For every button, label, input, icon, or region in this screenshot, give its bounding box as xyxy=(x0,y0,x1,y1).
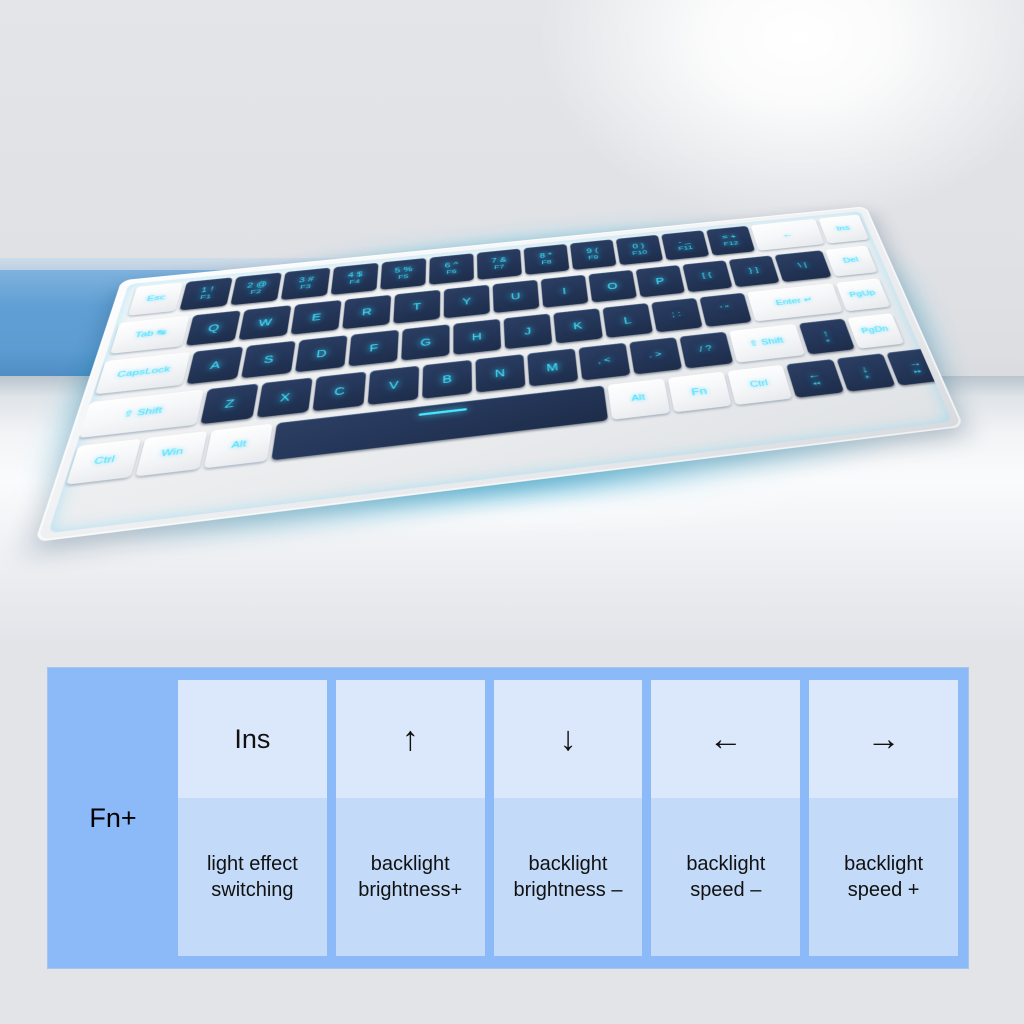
keycap-primary-legend: F xyxy=(369,342,379,353)
key-4[interactable]: 4 $F4 xyxy=(331,263,379,295)
product-image-stage: Esc1 !F12 @F23 #F34 $F45 %F56 ^F67 &F78 … xyxy=(0,0,1024,1024)
keycap-primary-legend: C xyxy=(334,385,346,397)
keycap-primary-legend: Win xyxy=(160,447,184,459)
keycap-secondary-legend: F5 xyxy=(398,274,409,281)
keycap-primary-legend: K xyxy=(573,320,583,331)
shortcut-column-2: ↓backlight brightness – xyxy=(494,680,643,956)
key-alt[interactable]: Alt xyxy=(607,378,670,419)
keycap-primary-legend: . > xyxy=(648,351,662,361)
key-tab[interactable]: Tab ↹ xyxy=(110,316,190,354)
shortcut-action-cell: backlight brightness – xyxy=(494,798,643,956)
keycap-primary-legend: Ctrl xyxy=(93,455,116,467)
keycap-secondary-legend: ☀ xyxy=(824,338,832,344)
key-ctrl[interactable]: Ctrl xyxy=(727,365,792,405)
keycap-primary-legend: [ { xyxy=(702,272,713,280)
keycap-primary-legend: Z xyxy=(224,397,236,409)
keycap-primary-legend: B xyxy=(442,373,452,385)
key-t[interactable]: T xyxy=(393,290,440,324)
keycap-primary-legend: PgDn xyxy=(861,325,891,336)
keycap-primary-legend: Fn xyxy=(690,386,708,398)
keycap-primary-legend: Enter ↵ xyxy=(775,296,814,307)
spacebar-indicator xyxy=(419,408,467,416)
keycap-primary-legend: Esc xyxy=(146,294,167,303)
keycap-primary-legend: ; : xyxy=(671,311,682,320)
key-6[interactable]: 6 ^F6 xyxy=(429,253,474,285)
key-u[interactable]: U xyxy=(493,280,540,313)
keycap-secondary-legend: F9 xyxy=(588,254,599,261)
keycap-primary-legend: V xyxy=(389,379,399,391)
keycap-primary-legend: ← xyxy=(806,369,822,380)
fn-shortcut-table: Fn+ Inslight effect switching↑backlight … xyxy=(48,668,968,968)
keycap-secondary-legend: F7 xyxy=(494,264,505,271)
backspace-icon[interactable]: ← xyxy=(751,219,825,251)
keycap-primary-legend: D xyxy=(316,348,328,359)
keycap-primary-legend: Q xyxy=(207,322,220,333)
keycap-secondary-legend: F1 xyxy=(199,294,212,301)
shortcut-key-label: ↓ xyxy=(559,722,576,756)
shortcut-column-4: →backlight speed + xyxy=(809,680,958,956)
keycap-primary-legend: I xyxy=(562,286,567,296)
keycap-primary-legend: → xyxy=(906,358,923,369)
key-alt[interactable]: Alt xyxy=(204,424,273,469)
keycap-primary-legend: Tab ↹ xyxy=(134,329,168,340)
key-fn[interactable]: Fn xyxy=(668,372,732,413)
shortcut-column-0: Inslight effect switching xyxy=(178,680,327,956)
shortcut-key-label: → xyxy=(867,722,901,756)
key-g[interactable]: G xyxy=(401,324,449,360)
keycap-primary-legend: Y xyxy=(462,296,471,306)
key-2[interactable]: 2 @F2 xyxy=(230,272,281,305)
shortcut-key-cell: → xyxy=(809,680,958,798)
key-ins[interactable]: Ins xyxy=(818,215,869,244)
shortcut-action-label: backlight speed – xyxy=(686,851,765,904)
keycap-secondary-legend: F8 xyxy=(541,259,552,266)
keycap-secondary-legend: F4 xyxy=(349,278,360,285)
shortcut-action-cell: backlight speed – xyxy=(651,798,800,956)
shortcut-key-cell: Ins xyxy=(178,680,327,798)
shortcut-column-3: ←backlight speed – xyxy=(651,680,800,956)
shortcut-action-cell: backlight speed + xyxy=(809,798,958,956)
keycap-primary-legend: G xyxy=(420,337,431,348)
keycap-primary-legend: P xyxy=(655,276,666,286)
shortcut-action-cell: backlight brightness+ xyxy=(336,798,485,956)
key-[interactable]: , < xyxy=(578,343,630,381)
shortcut-key-label: ← xyxy=(709,722,743,756)
key-y[interactable]: Y xyxy=(444,285,490,319)
arrow-left-icon[interactable]: ←◂◂ xyxy=(786,359,844,398)
shortcut-action-label: backlight brightness+ xyxy=(358,851,462,904)
keycap-primary-legend: L xyxy=(623,315,632,325)
keycap-primary-legend: \ | xyxy=(797,262,808,270)
key-k[interactable]: K xyxy=(553,308,603,343)
key-pgdn[interactable]: PgDn xyxy=(847,313,904,349)
key-e[interactable]: E xyxy=(291,300,342,335)
key-[interactable]: ; : xyxy=(651,298,702,333)
keycap-primary-legend: ⇧ Shift xyxy=(122,407,163,420)
keycap-primary-legend: O xyxy=(607,281,619,291)
keycap-primary-legend: H xyxy=(472,331,482,342)
key-h[interactable]: H xyxy=(453,319,501,355)
key-s[interactable]: S xyxy=(241,341,296,379)
key-m[interactable]: M xyxy=(527,348,578,386)
fn-modifier-label: Fn+ xyxy=(48,668,178,968)
key-o[interactable]: O xyxy=(588,270,637,303)
keycap-primary-legend: Ins xyxy=(836,225,852,233)
key-z[interactable]: Z xyxy=(200,383,258,424)
keycap-secondary-legend: F11 xyxy=(678,245,694,252)
shortcut-key-label: Ins xyxy=(234,724,270,755)
key-[interactable]: [ { xyxy=(682,260,732,292)
shortcut-key-cell: ← xyxy=(651,680,800,798)
key-n[interactable]: N xyxy=(475,354,525,393)
key-[interactable]: ' " xyxy=(699,293,751,327)
key-i[interactable]: I xyxy=(541,275,589,308)
key-enter[interactable]: Enter ↵ xyxy=(747,283,843,321)
key-capslock[interactable]: CapsLock xyxy=(95,352,190,394)
shortcut-key-cell: ↑ xyxy=(336,680,485,798)
key-0[interactable]: 0 )F10 xyxy=(616,235,663,265)
shortcut-columns: Inslight effect switching↑backlight brig… xyxy=(178,668,968,968)
shortcut-action-label: light effect switching xyxy=(207,851,298,904)
key-x[interactable]: X xyxy=(257,377,313,417)
shortcut-action-label: backlight speed + xyxy=(844,851,923,904)
keycap-primary-legend: , < xyxy=(597,356,611,366)
key-3[interactable]: 3 #F3 xyxy=(281,268,331,301)
key-j[interactable]: J xyxy=(504,314,553,350)
keycap-primary-legend: X xyxy=(279,391,291,403)
key-l[interactable]: L xyxy=(602,303,653,338)
keycap-primary-legend: Ctrl xyxy=(749,379,769,390)
key-c[interactable]: C xyxy=(312,372,366,412)
key-q[interactable]: Q xyxy=(186,310,241,345)
keycap-secondary-legend: ☀ xyxy=(863,374,871,380)
key-r[interactable]: R xyxy=(342,295,391,329)
key-win[interactable]: Win xyxy=(135,431,207,476)
arrow-down-brightness-icon[interactable]: ↓☀ xyxy=(836,353,895,391)
keycap-primary-legend: CapsLock xyxy=(116,366,171,380)
keycap-primary-legend: N xyxy=(495,367,506,379)
key-9[interactable]: 9 (F9 xyxy=(570,239,617,270)
key-[interactable]: - _F11 xyxy=(661,230,709,260)
key-[interactable]: } ] xyxy=(729,255,780,287)
keycap-primary-legend: Alt xyxy=(631,394,646,404)
key-w[interactable]: W xyxy=(239,305,292,340)
keycap-secondary-legend: ▸▸ xyxy=(913,368,922,374)
key-ctrl[interactable]: Ctrl xyxy=(66,439,141,485)
keycap-secondary-legend: F12 xyxy=(723,240,739,247)
key-del[interactable]: Del xyxy=(825,246,878,277)
keycap-primary-legend: E xyxy=(311,312,322,323)
key-shift[interactable]: ⇧ Shift xyxy=(729,324,805,363)
keycap-primary-legend: ⇧ Shift xyxy=(748,337,784,349)
keycap-primary-legend: PgUp xyxy=(849,290,878,300)
keycap-primary-legend: ↑ xyxy=(821,328,831,338)
shortcut-key-label: ↑ xyxy=(402,722,419,756)
keycap-primary-legend: } ] xyxy=(748,267,759,275)
keycap-primary-legend: ← xyxy=(780,230,794,239)
key-b[interactable]: B xyxy=(422,360,472,399)
key-f[interactable]: F xyxy=(348,330,398,367)
keycap-primary-legend: U xyxy=(511,291,521,301)
keycap-primary-legend: S xyxy=(263,353,275,364)
key-[interactable]: . > xyxy=(629,337,682,374)
key-[interactable]: \ | xyxy=(774,250,831,282)
key-esc[interactable]: Esc xyxy=(128,282,183,315)
keycap-secondary-legend: ◂◂ xyxy=(812,380,821,386)
key-[interactable]: = +F12 xyxy=(706,226,755,256)
keycap-primary-legend: R xyxy=(362,306,373,317)
keycap-primary-legend: Del xyxy=(842,257,860,265)
key-v[interactable]: V xyxy=(368,366,419,405)
keycap-secondary-legend: F6 xyxy=(446,269,457,276)
keycap-primary-legend: Alt xyxy=(231,440,248,451)
key-1[interactable]: 1 !F1 xyxy=(179,277,232,310)
keycap-primary-legend: T xyxy=(413,301,422,311)
shortcut-action-cell: light effect switching xyxy=(178,798,327,956)
keycap-secondary-legend: F3 xyxy=(300,283,312,290)
keycap-primary-legend: ' " xyxy=(720,305,731,313)
key-p[interactable]: P xyxy=(636,265,685,297)
key-5[interactable]: 5 %F5 xyxy=(380,258,426,290)
arrow-up-brightness-icon[interactable]: ↑☀ xyxy=(799,318,855,354)
keycap-primary-legend: / ? xyxy=(699,345,713,354)
key-[interactable]: / ? xyxy=(679,332,733,369)
keycap-primary-legend: J xyxy=(524,326,532,337)
keycap-primary-legend: W xyxy=(258,317,273,328)
keycap-primary-legend: A xyxy=(209,359,221,371)
keycap-secondary-legend: F10 xyxy=(632,249,648,256)
keycap-primary-legend: M xyxy=(546,361,559,373)
keycap-secondary-legend: F2 xyxy=(250,288,262,295)
key-8[interactable]: 8 *F8 xyxy=(524,244,570,275)
key-shift[interactable]: ⇧ Shift xyxy=(79,390,204,439)
key-7[interactable]: 7 &F7 xyxy=(477,249,522,280)
shortcut-action-label: backlight brightness – xyxy=(514,851,623,904)
key-d[interactable]: D xyxy=(295,335,347,372)
shortcut-column-1: ↑backlight brightness+ xyxy=(336,680,485,956)
shortcut-key-cell: ↓ xyxy=(494,680,643,798)
keycap-primary-legend: ↓ xyxy=(859,364,869,375)
key-pgup[interactable]: PgUp xyxy=(836,278,891,311)
key-a[interactable]: A xyxy=(187,346,244,384)
